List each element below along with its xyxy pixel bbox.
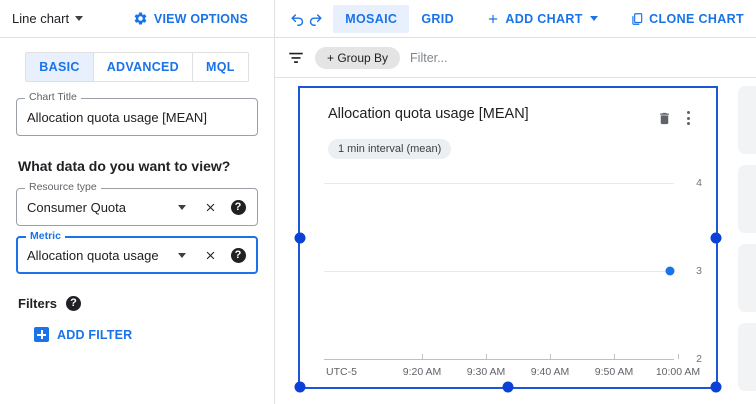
trash-icon (657, 111, 672, 126)
adjacent-cards-column (732, 86, 756, 402)
filters-section-header: Filters ? (18, 296, 258, 311)
monitoring-chart-editor: Line chart VIEW OPTIONS BASIC ADVANCED M… (0, 0, 756, 404)
add-filter-button[interactable]: ADD FILTER (34, 327, 258, 342)
x-tick-label: 9:50 AM (595, 367, 634, 378)
resource-type-help-button[interactable]: ? (225, 194, 251, 220)
panel-header: Line chart VIEW OPTIONS (0, 0, 274, 38)
clone-chart-label: CLONE CHART (649, 12, 744, 26)
redo-icon (307, 10, 324, 27)
resize-handle-bottom-center[interactable] (503, 382, 514, 393)
metric-value: Allocation quota usage (27, 248, 169, 263)
plus-icon (486, 12, 500, 26)
group-by-chip[interactable]: + Group By (315, 47, 400, 69)
help-icon: ? (231, 200, 246, 215)
metric-icons: ? (169, 242, 251, 268)
metric-help-button[interactable]: ? (225, 242, 251, 268)
dashboard-filter-bar: + Group By Filter... (275, 38, 756, 78)
tab-mql[interactable]: MQL (193, 53, 248, 81)
gridline-y4 (324, 183, 674, 184)
timezone-label: UTC-5 (326, 367, 357, 378)
delete-chart-button[interactable] (652, 106, 676, 130)
filter-input[interactable]: Filter... (410, 51, 448, 65)
resize-handle-bottom-left[interactable] (295, 382, 306, 393)
data-section-heading: What data do you want to view? (18, 158, 258, 174)
resource-type-field[interactable]: Resource type Consumer Quota ? (16, 188, 258, 226)
x-tick-label: 9:40 AM (531, 367, 570, 378)
undo-button[interactable] (289, 4, 307, 34)
adjacent-card[interactable] (738, 323, 756, 391)
config-form: Chart Title Allocation quota usage [MEAN… (0, 82, 274, 342)
chart-card[interactable]: Allocation quota usage [MEAN] 1 min inte… (298, 86, 718, 389)
x-axis-line (324, 359, 674, 360)
plus-icon (34, 327, 49, 342)
help-icon[interactable]: ? (66, 296, 81, 311)
x-tick-mark (486, 354, 487, 359)
metric-field[interactable]: Metric Allocation quota usage ? (16, 236, 258, 274)
metric-dropdown-button[interactable] (169, 242, 195, 268)
tab-basic[interactable]: BASIC (26, 53, 93, 81)
x-tick-mark (550, 354, 551, 359)
metric-clear-button[interactable] (197, 242, 223, 268)
config-tabs: BASIC ADVANCED MQL (25, 52, 248, 82)
undo-icon (289, 10, 306, 27)
chart-card-header: Allocation quota usage [MEAN] (300, 88, 716, 130)
dashboard-panel: MOSAIC GRID ADD CHART CLONE CHART (275, 0, 756, 404)
dashboard-toolbar: MOSAIC GRID ADD CHART CLONE CHART (275, 0, 756, 38)
x-tick-label: 9:30 AM (467, 367, 506, 378)
x-tick-label: 10:00 AM (656, 367, 700, 378)
resize-handle-right[interactable] (711, 232, 722, 243)
config-tabs-row: BASIC ADVANCED MQL (0, 38, 274, 82)
tab-advanced[interactable]: ADVANCED (94, 53, 193, 81)
dashboard-canvas: Allocation quota usage [MEAN] 1 min inte… (275, 78, 756, 400)
close-icon (204, 201, 217, 214)
grid-layout-button[interactable]: GRID (409, 5, 466, 33)
chart-type-dropdown[interactable]: Line chart (12, 11, 83, 26)
adjacent-card[interactable] (738, 244, 756, 312)
interval-chip: 1 min interval (mean) (328, 139, 451, 159)
resource-type-icons: ? (169, 194, 251, 220)
chevron-down-icon (178, 205, 186, 210)
chart-type-label: Line chart (12, 11, 69, 26)
chart-plot-area: 4 3 2 UTC-5 9:20 AM 9:30 AM (300, 173, 716, 373)
resource-type-clear-button[interactable] (197, 194, 223, 220)
resize-handle-left[interactable] (295, 232, 306, 243)
copy-icon (630, 12, 644, 26)
gridline-y3 (324, 271, 674, 272)
adjacent-card[interactable] (738, 165, 756, 233)
chart-title-label: Chart Title (25, 92, 81, 103)
resize-handle-bottom-right[interactable] (711, 382, 722, 393)
clone-chart-button[interactable]: CLONE CHART (618, 5, 756, 33)
y-tick-label-3: 3 (696, 266, 702, 277)
chart-menu-button[interactable] (676, 106, 700, 130)
adjacent-card[interactable] (738, 86, 756, 154)
view-options-button[interactable]: VIEW OPTIONS (133, 11, 262, 26)
x-tick-mark (614, 354, 615, 359)
x-tick-mark (422, 354, 423, 359)
filters-label: Filters (18, 296, 57, 311)
filter-lines-icon[interactable] (287, 49, 305, 67)
chevron-down-icon (590, 16, 598, 21)
x-tick-mark (678, 354, 679, 359)
y-tick-label-4: 4 (696, 178, 702, 189)
chevron-down-icon (178, 253, 186, 258)
resource-type-value: Consumer Quota (27, 200, 169, 215)
resource-type-label: Resource type (25, 182, 101, 193)
data-point[interactable] (666, 267, 675, 276)
mosaic-layout-button[interactable]: MOSAIC (333, 5, 409, 33)
help-icon: ? (231, 248, 246, 263)
redo-button[interactable] (307, 4, 325, 34)
chart-card-title: Allocation quota usage [MEAN] (328, 106, 652, 123)
resource-type-dropdown-button[interactable] (169, 194, 195, 220)
chevron-down-icon (75, 16, 83, 21)
metric-label: Metric (26, 231, 65, 242)
add-chart-button[interactable]: ADD CHART (474, 5, 609, 33)
add-filter-label: ADD FILTER (57, 328, 132, 342)
chart-title-value: Allocation quota usage [MEAN] (27, 110, 251, 125)
more-vert-icon (687, 111, 690, 125)
gear-icon (133, 11, 148, 26)
close-icon (204, 249, 217, 262)
chart-title-field[interactable]: Chart Title Allocation quota usage [MEAN… (16, 98, 258, 136)
x-tick-label: 9:20 AM (403, 367, 442, 378)
y-tick-label-2: 2 (696, 354, 702, 365)
add-chart-label: ADD CHART (505, 12, 582, 26)
view-options-label: VIEW OPTIONS (154, 12, 248, 26)
chart-config-panel: Line chart VIEW OPTIONS BASIC ADVANCED M… (0, 0, 275, 404)
